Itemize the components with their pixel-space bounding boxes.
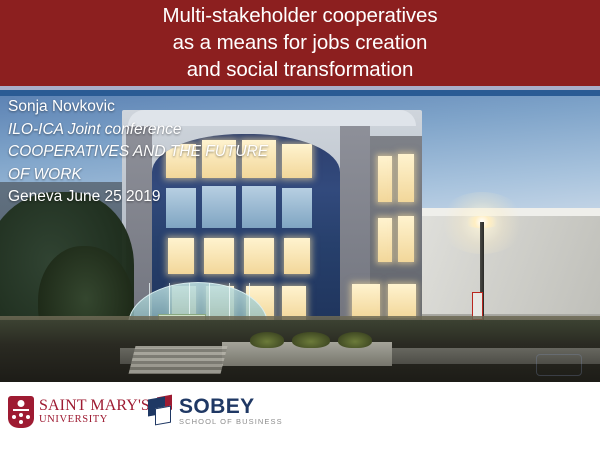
sobey-mark-icon (148, 396, 174, 426)
presentation-slide: Multi-stakeholder cooperatives as a mean… (0, 0, 600, 450)
saint-marys-line-1: SAINT MARY'S (39, 398, 150, 414)
entrance-stairs (129, 346, 228, 374)
title-line-2: as a means for jobs creation (0, 29, 600, 56)
sobey-line-2: SCHOOL OF BUSINESS (179, 418, 283, 426)
crest-star-icon (19, 413, 23, 417)
crest-star-icon (26, 415, 30, 419)
window-dim (282, 188, 312, 228)
bicycle-rack (536, 354, 582, 376)
caption-conference-theme-line-1: COOPERATIVES AND THE FUTURE (8, 141, 268, 164)
caption-conference-name: ILO-ICA Joint conference (8, 119, 268, 142)
window-lit (398, 216, 414, 262)
window-lit (168, 238, 194, 274)
title-line-3: and social transformation (0, 56, 600, 83)
caption-speaker-name: Sonja Novkovic (8, 96, 268, 119)
saint-marys-wordmark: SAINT MARY'S UNIVERSITY (39, 398, 150, 425)
window-lit (378, 218, 392, 262)
divider-blue-rule (0, 90, 600, 96)
window-lit (398, 154, 414, 202)
saint-marys-crest-icon (8, 396, 34, 428)
speaker-and-event-caption: Sonja Novkovic ILO-ICA Joint conference … (8, 96, 268, 209)
caption-location-date: Geneva June 25 2019 (8, 186, 268, 209)
saint-marys-line-2: UNIVERSITY (39, 415, 150, 426)
window-lit (352, 284, 380, 318)
shrub (338, 332, 372, 348)
window-lit (204, 238, 234, 274)
sobey-wordmark: SOBEY SCHOOL OF BUSINESS (179, 396, 283, 425)
crest-star-icon (19, 420, 23, 424)
sobey-line-1: SOBEY (179, 396, 283, 417)
logo-footer: SAINT MARY'S UNIVERSITY SOBEY SCHOOL OF … (0, 382, 600, 450)
caption-conference-theme-line-2: OF WORK (8, 164, 268, 187)
window-lit (282, 144, 312, 178)
crest-star-icon (12, 415, 16, 419)
title-line-1: Multi-stakeholder cooperatives (0, 2, 600, 29)
window-lit (284, 238, 310, 274)
logo-saint-marys-university: SAINT MARY'S UNIVERSITY (8, 396, 150, 428)
window-lit (388, 284, 416, 318)
building-photo: Sonja Novkovic ILO-ICA Joint conference … (0, 96, 600, 382)
logo-sobey-school-of-business: SOBEY SCHOOL OF BUSINESS (148, 396, 283, 426)
shrub (250, 332, 284, 348)
window-lit (282, 286, 306, 320)
page-title: Multi-stakeholder cooperatives as a mean… (0, 2, 600, 83)
shrub (292, 332, 330, 348)
window-lit (244, 238, 274, 274)
window-lit (378, 156, 392, 202)
sobey-mark-outline-shape (155, 406, 171, 426)
